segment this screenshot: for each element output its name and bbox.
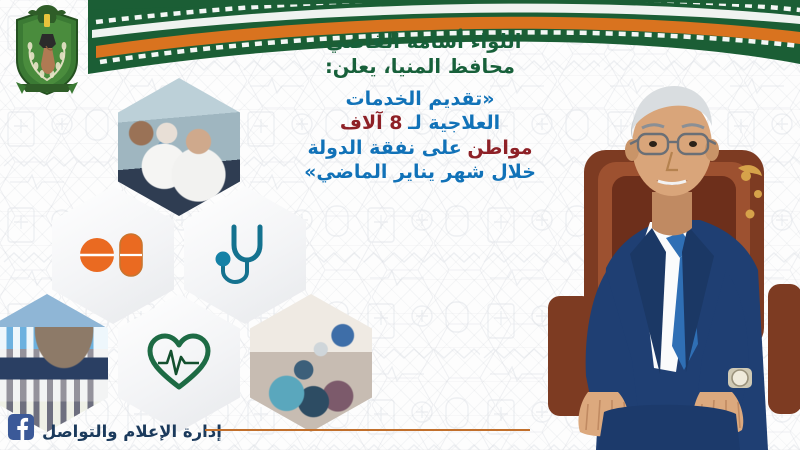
heart-pulse-icon: [146, 333, 212, 393]
hexagon-cluster: [0, 78, 352, 413]
headline-line-5-red: مواطن: [467, 137, 532, 159]
hex-stethoscope-icon: [184, 186, 306, 324]
pill-capsule-icon: [78, 232, 148, 278]
footer-text: إدارة الإعلام والتواصل: [42, 422, 222, 441]
footer: إدارة الإعلام والتواصل: [0, 410, 800, 444]
headline-line-4-blue: العلاجية لـ: [408, 112, 500, 134]
poster-root: اللواء أسامة القاضي، محافظ المنيا، يعلن:…: [0, 0, 800, 450]
hex-pills-icon: [52, 186, 174, 324]
hex-doctor-patient: [118, 78, 240, 216]
stethoscope-icon: [214, 222, 276, 288]
facebook-icon[interactable]: [8, 414, 34, 440]
governor-portrait: [532, 0, 800, 450]
footer-divider: [205, 429, 530, 432]
